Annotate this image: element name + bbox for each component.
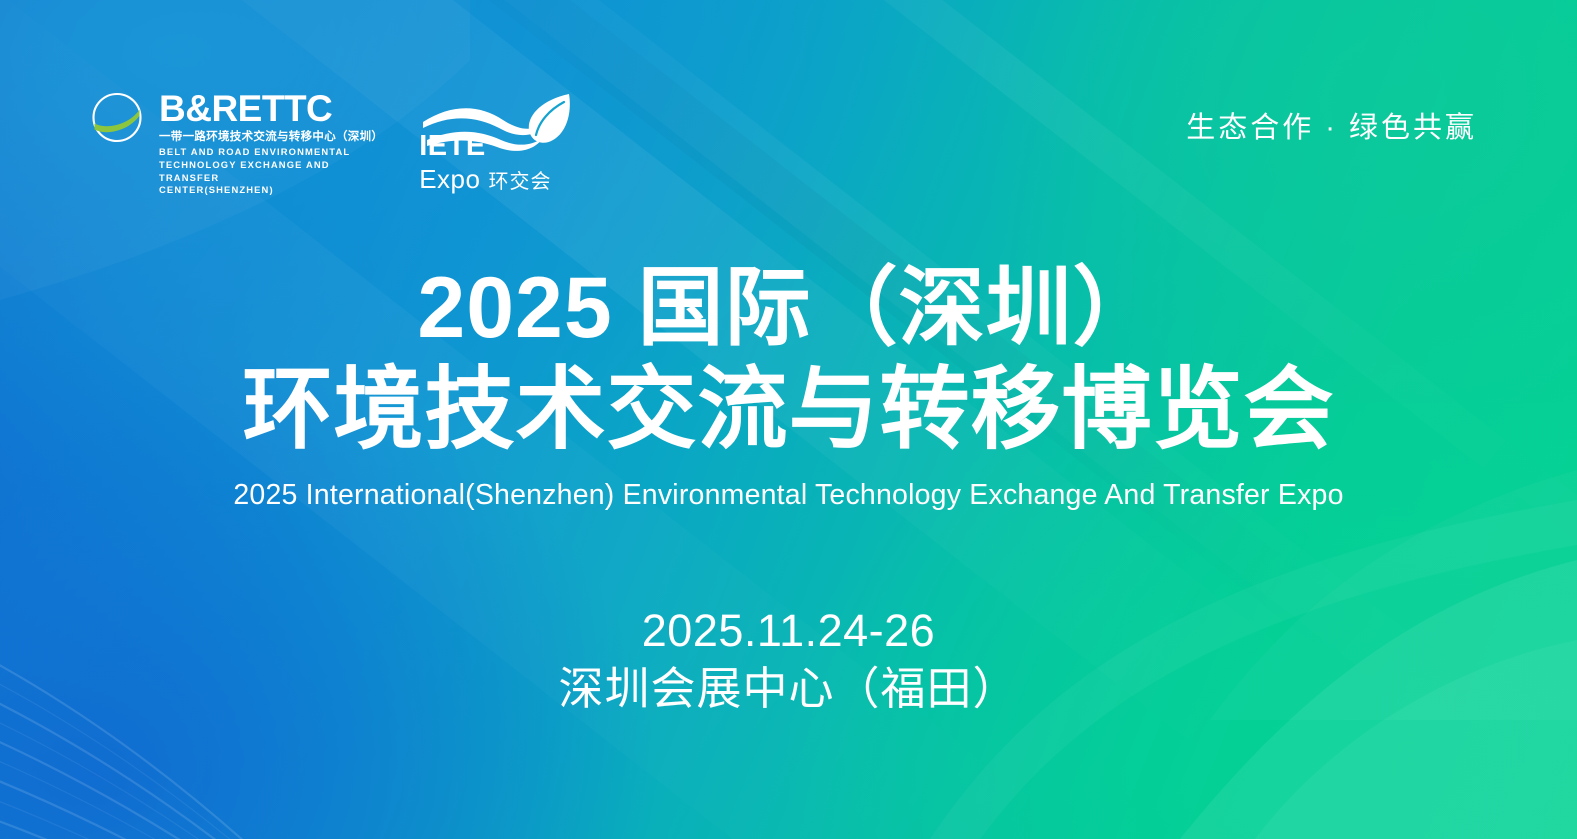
iete-expo-word: Expo	[419, 166, 480, 192]
iete-subline: Expo 环交会	[419, 166, 551, 192]
iete-chinese-short: 环交会	[488, 172, 551, 192]
title-line-2: 环境技术交流与转移博览会	[0, 360, 1577, 461]
event-info-block: 2025.11.24-26 深圳会展中心（福田）	[0, 604, 1577, 715]
slogan-text: 生态合作 · 绿色共赢	[1186, 104, 1477, 146]
title-english-subtitle: 2025 International(Shenzhen) Environment…	[0, 479, 1577, 512]
brettc-text-block: B&RETTC 一带一路环境技术交流与转移中心（深圳） BELT AND ROA…	[159, 90, 383, 197]
iete-expo-logo[interactable]: IETE Expo 环交会	[417, 88, 577, 188]
expo-banner: B&RETTC 一带一路环境技术交流与转移中心（深圳） BELT AND ROA…	[0, 0, 1577, 839]
brettc-english-line-2: TECHNOLOGY EXCHANGE AND TRANSFER	[159, 159, 364, 184]
brettc-chinese-name: 一带一路环境技术交流与转移中心（深圳）	[159, 131, 383, 144]
iete-acronym: IETE	[419, 132, 551, 161]
iete-wordmark: IETE Expo 环交会	[419, 132, 551, 192]
main-title-block: 2025 国际（深圳） 环境技术交流与转移博览会 2025 Internatio…	[0, 262, 1577, 512]
event-venue: 深圳会展中心（福田）	[0, 662, 1577, 715]
title-line-1: 2025 国际（深圳）	[0, 262, 1577, 354]
logo-group: B&RETTC 一带一路环境技术交流与转移中心（深圳） BELT AND ROA…	[88, 88, 577, 197]
brettc-logo[interactable]: B&RETTC 一带一路环境技术交流与转移中心（深圳） BELT AND ROA…	[88, 88, 383, 197]
brettc-english-name: BELT AND ROAD ENVIRONMENTAL TECHNOLOGY E…	[159, 146, 364, 197]
brettc-english-line-1: BELT AND ROAD ENVIRONMENTAL	[159, 146, 364, 159]
event-date: 2025.11.24-26	[0, 604, 1577, 657]
brettc-english-line-3: CENTER(SHENZHEN)	[159, 184, 364, 197]
globe-circle-icon	[88, 91, 150, 145]
brettc-acronym: B&RETTC	[159, 90, 383, 127]
